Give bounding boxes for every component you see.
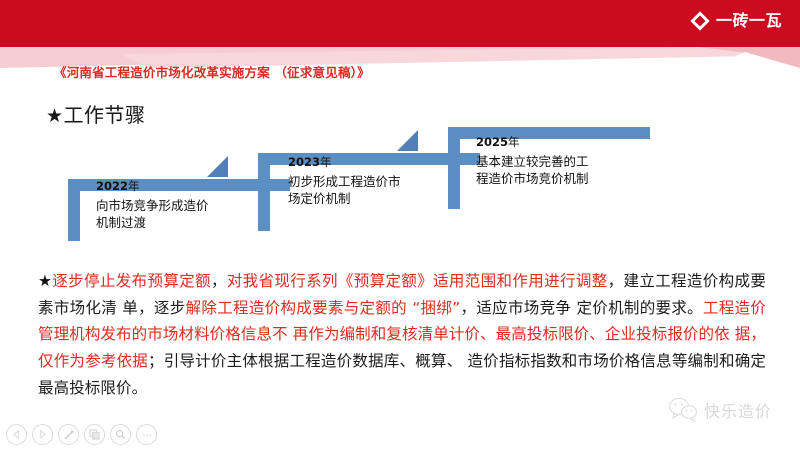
body-paragraph: ★逐步停止发布预算定额，对我省现行系列《预算定额》适用范围和作用进行调整，建立工… (38, 268, 766, 401)
body-segment-4: 解除工程造价构成要素与定额的 “捆绑” (186, 299, 461, 317)
zoom-button[interactable] (110, 424, 131, 445)
roadmap-step-2-desc-line1: 初步形成工程造价市 (288, 174, 458, 191)
wechat-icon (668, 397, 698, 422)
body-star-bullet-icon: ★ (38, 272, 52, 290)
chevron-right-icon (38, 430, 47, 439)
roadmap-step-1-year: 2022年 (96, 178, 266, 194)
bottom-toolbar (6, 424, 157, 445)
copy-icon (89, 429, 100, 440)
ellipsis-icon (141, 429, 153, 441)
body-segment-7: ；引导计价主体根据工程造价数据库、概算、 造价指标指数和市场价格信息等编制和确定… (38, 352, 766, 397)
body-segment-0: 逐步停止发布预算定额 (52, 272, 211, 290)
wechat-watermark-text: 快乐造价 (704, 398, 772, 422)
diamond-icon (689, 10, 711, 32)
roadmap-step-3-desc-line1: 基本建立较完善的工 (476, 154, 656, 171)
body-segment-2: 对我省现行系列《预算定额》适用范围和作用进行调整 (227, 272, 608, 290)
body-segment-5: ，适应市场竞争 定价机制的要求。 (460, 299, 703, 317)
brand-logo: 一砖一瓦 (689, 10, 782, 32)
chevron-left-icon (12, 430, 21, 439)
roadmap-step-3-desc-line2: 程造价市场竞价机制 (476, 171, 656, 188)
magnifier-icon (115, 429, 126, 440)
section-heading: ★工作节骤 (46, 99, 146, 128)
previous-button[interactable] (6, 424, 27, 445)
section-heading-label: 工作节骤 (64, 103, 146, 127)
copy-button[interactable] (84, 424, 105, 445)
edit-button[interactable] (58, 424, 79, 445)
roadmap-step-3-year: 2025年 (476, 134, 656, 150)
roadmap-step-1-desc-line1: 向市场竞争形成造价 (96, 198, 266, 215)
roadmap-step-2-year: 2023年 (288, 154, 458, 170)
pen-icon (63, 429, 75, 441)
roadmap-step-3-label: 2025年 基本建立较完善的工 程造价市场竞价机制 (476, 134, 656, 188)
next-button[interactable] (32, 424, 53, 445)
slide-root: 一砖一瓦 《河南省工程造价市场化改革实施方案 （征求意见稿）》 ★工作节骤 20… (0, 0, 800, 450)
brand-logo-text: 一砖一瓦 (716, 13, 782, 29)
body-paragraph-text: 逐步停止发布预算定额，对我省现行系列《预算定额》适用范围和作用进行调整，建立工程… (38, 272, 766, 397)
roadmap-step-2-label: 2023年 初步形成工程造价市 场定价机制 (288, 154, 458, 208)
roadmap-step-1-label: 2022年 向市场竞争形成造价 机制过渡 (96, 178, 266, 232)
wechat-watermark: 快乐造价 (668, 397, 772, 422)
star-bullet-icon: ★ (46, 105, 64, 127)
more-button[interactable] (136, 424, 157, 445)
roadmap-step-2-desc-line2: 场定价机制 (288, 191, 458, 208)
header-band (0, 0, 800, 47)
document-title: 《河南省工程造价市场化改革实施方案 （征求意见稿）》 (54, 62, 370, 81)
roadmap-step-1-desc-line2: 机制过渡 (96, 215, 266, 232)
body-segment-1: ， (211, 272, 227, 290)
